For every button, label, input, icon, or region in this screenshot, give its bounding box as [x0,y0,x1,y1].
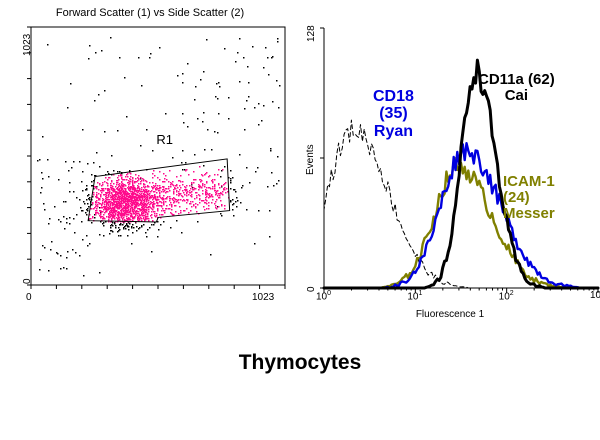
curve-label-cd11a-line1: CD11a (62) [478,72,555,88]
curve-label-icam1-line2: (24) [503,190,555,206]
curve-label-icam1-line3: Messer [503,206,555,222]
scatter-y-axis-min-label: 0 [22,278,33,284]
histogram-panel [300,0,600,330]
scatter-plot-canvas: R1 [0,0,300,320]
histogram-canvas [300,0,600,330]
curve-label-cd18-line3: Ryan [373,123,414,140]
histogram-x-tick-2: 102 [499,290,514,302]
histogram-x-tick-3: 10 [590,290,600,301]
curve-label-icam1: ICAM-1 (24) Messer [503,174,555,223]
histogram-x-tick-0: 100 [316,290,331,302]
scatter-y-axis-max-label: 1023 [22,34,33,56]
curve-label-icam1-line1: ICAM-1 [503,174,555,190]
histogram-curve-icam1 [324,158,598,288]
histogram-x-axis-title: Fluorescence 1 [300,309,600,320]
curve-label-cd18: CD18 (35) Ryan [373,88,414,140]
histogram-x-tick-1: 101 [407,290,422,302]
scatter-x-axis-min-label: 0 [26,292,32,303]
curve-label-cd18-line1: CD18 [373,88,414,105]
scatter-x-axis-max-label: 1023 [252,292,274,303]
flow-cytometry-figure: Forward Scatter (1) vs Side Scatter (2) … [0,0,600,440]
histogram-curve-cd11a [324,60,598,288]
curve-label-cd11a-line2: Cai [478,88,555,104]
histogram-y-axis-title: Events [305,144,316,175]
gate-label-r1: R1 [156,132,173,147]
curve-label-cd18-line2: (35) [373,105,414,122]
scatter-plot-title: Forward Scatter (1) vs Side Scatter (2) [0,7,300,19]
scatter-plot-panel: Forward Scatter (1) vs Side Scatter (2) … [0,0,300,320]
figure-caption: Thymocytes [0,351,600,375]
curve-label-cd11a: CD11a (62) Cai [478,72,555,104]
histogram-y-axis-max-label: 128 [306,25,317,42]
